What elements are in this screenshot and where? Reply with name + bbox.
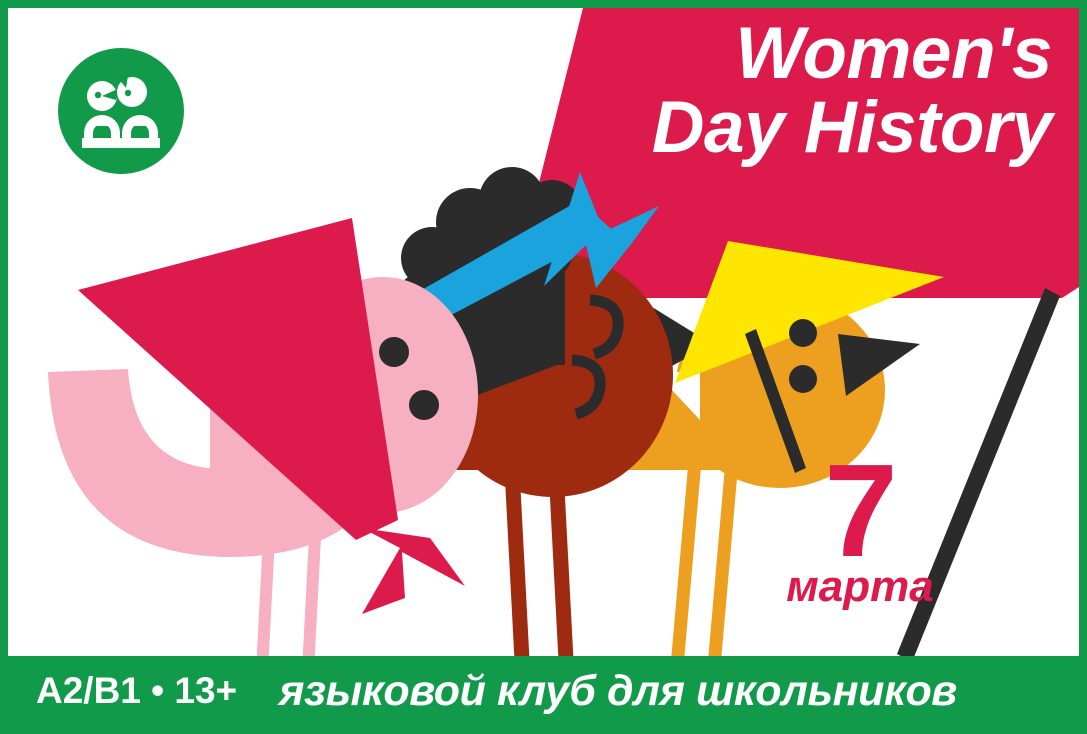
- event-date-day: 7: [760, 452, 960, 571]
- poster-title-line-1: Women's: [600, 18, 1052, 90]
- speaking-people-logo[interactable]: [58, 48, 184, 174]
- logo-circle: [58, 48, 184, 174]
- poster-title-line-2: Day History: [600, 92, 1052, 164]
- logo-speech-right-dot: [125, 90, 131, 96]
- poster-title: Women's Day History: [600, 18, 1052, 163]
- event-date: 7 марта: [760, 452, 960, 609]
- level-and-age-badge: A2/B1 • 13+: [36, 670, 237, 712]
- pink-bird-eye-lower: [409, 390, 439, 420]
- poster-canvas: Women's Day History 7 марта A2/B1 • 13+ …: [0, 0, 1087, 734]
- logo-speech-left-dot: [95, 92, 101, 98]
- speaking-people-logo-icon: [58, 48, 184, 174]
- event-date-month: марта: [760, 565, 960, 609]
- footer-tagline: языковой клуб для школьников: [279, 667, 957, 716]
- pink-bird-eye-upper: [379, 337, 409, 367]
- footer-bar: A2/B1 • 13+ языковой клуб для школьников: [8, 656, 1079, 726]
- yellow-bird-eye-lower: [789, 365, 817, 393]
- yellow-bird-eye-upper: [789, 319, 817, 347]
